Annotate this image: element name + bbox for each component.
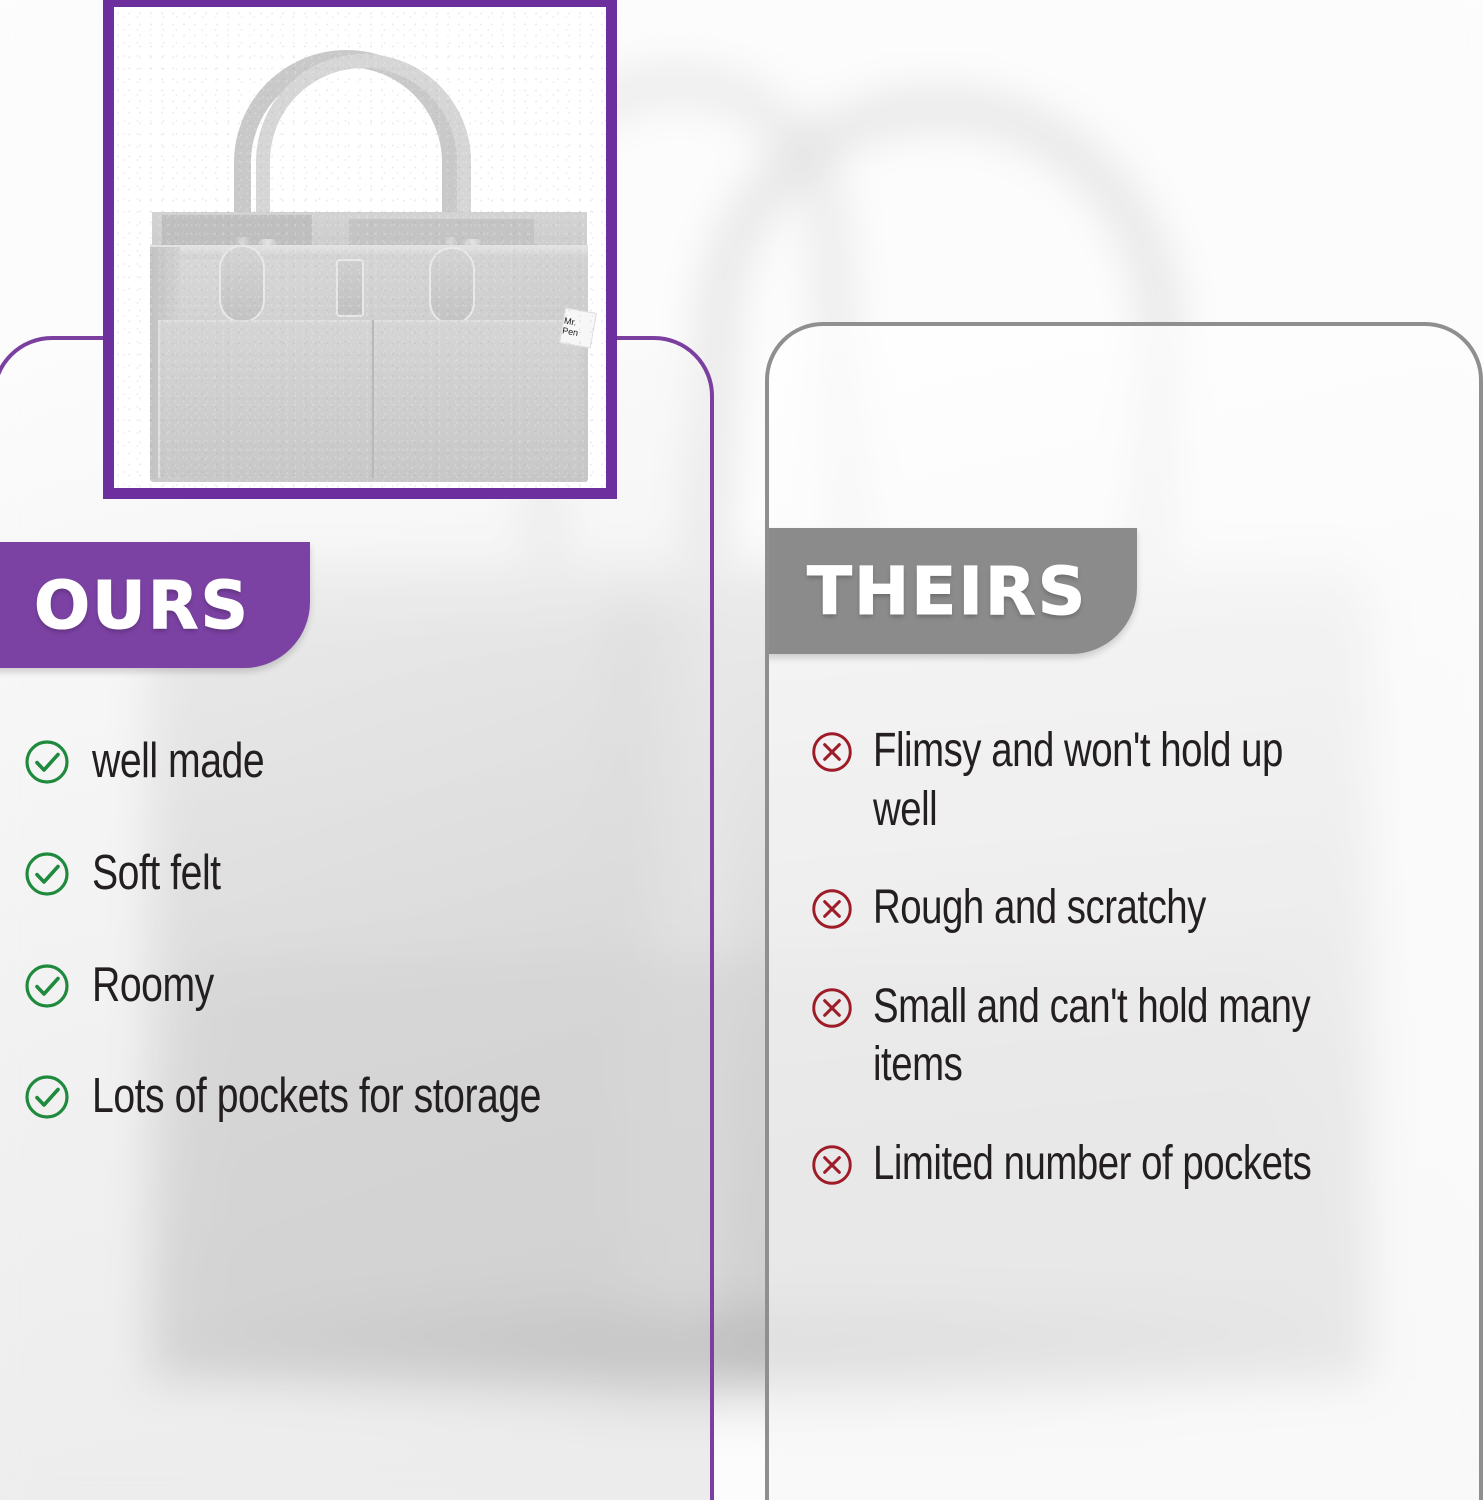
product-image-inset: Mr. Pen: [103, 0, 617, 499]
x-circle-icon: [811, 987, 853, 1029]
list-item: Small and can't hold many items: [811, 978, 1439, 1095]
bag-front-pocket: [158, 320, 582, 478]
brand-tag: Mr. Pen: [559, 307, 597, 348]
list-item: Lots of pockets for storage: [24, 1067, 666, 1127]
x-circle-icon: [811, 1144, 853, 1186]
feature-text: Small and can't hold many items: [873, 978, 1326, 1095]
comparison-column-ours: OURS well made Sof: [0, 336, 714, 1500]
feature-list-theirs: Flimsy and won't hold up well Rough and …: [811, 722, 1439, 1233]
feature-text: well made: [92, 732, 551, 792]
bag-strap-tab-middle: [336, 259, 364, 317]
bag-strap-tab-left: [219, 245, 265, 323]
bag-icon: Mr. Pen: [114, 7, 606, 488]
comparison-column-theirs: THEIRS Flimsy and won't hold up well: [765, 322, 1483, 1500]
feature-text: Limited number of pockets: [873, 1135, 1326, 1194]
check-circle-icon: [24, 1074, 70, 1120]
feature-list-ours: well made Soft felt Ro: [24, 732, 666, 1179]
feature-text: Rough and scratchy: [873, 879, 1326, 938]
check-circle-icon: [24, 851, 70, 897]
feature-text: Roomy: [92, 956, 551, 1016]
banner-theirs: THEIRS: [765, 528, 1137, 654]
check-circle-icon: [24, 963, 70, 1009]
check-circle-icon: [24, 739, 70, 785]
bag-front-rim: [150, 245, 588, 259]
list-item: well made: [24, 732, 666, 792]
x-circle-icon: [811, 731, 853, 773]
bag-strap-tab-right: [429, 247, 475, 325]
comparison-infographic: OURS well made Sof: [0, 0, 1483, 1500]
list-item: Flimsy and won't hold up well: [811, 722, 1439, 839]
banner-label-ours: OURS: [0, 567, 250, 644]
list-item: Roomy: [24, 956, 666, 1016]
list-item: Limited number of pockets: [811, 1135, 1439, 1194]
feature-text: Soft felt: [92, 844, 551, 904]
list-item: Rough and scratchy: [811, 879, 1439, 938]
banner-ours: OURS: [0, 542, 310, 668]
x-circle-icon: [811, 888, 853, 930]
list-item: Soft felt: [24, 844, 666, 904]
feature-text: Lots of pockets for storage: [92, 1067, 551, 1127]
feature-text: Flimsy and won't hold up well: [873, 722, 1326, 839]
banner-label-theirs: THEIRS: [765, 553, 1087, 630]
bag-pocket-seam: [372, 320, 374, 478]
